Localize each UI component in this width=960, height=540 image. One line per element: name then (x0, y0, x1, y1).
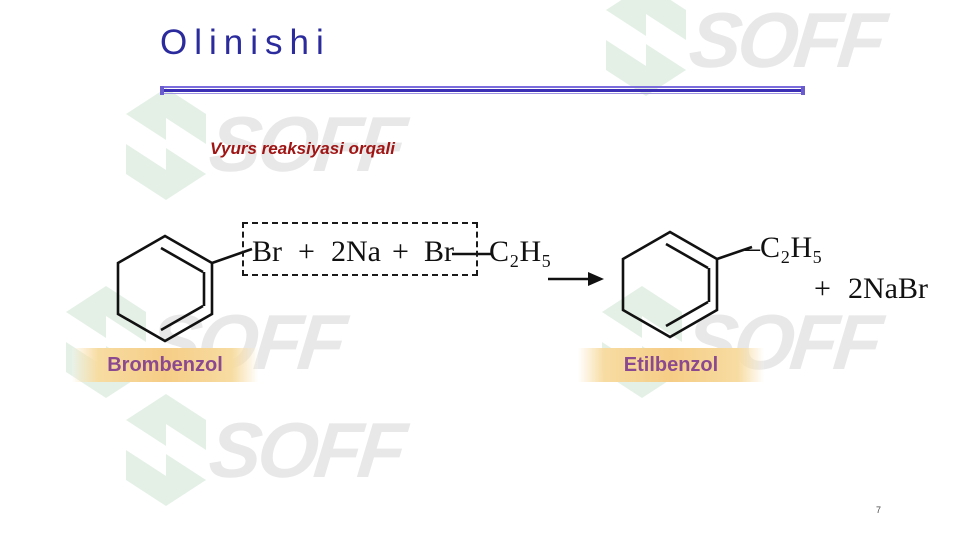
rule-line-main (160, 89, 805, 92)
reagent-br-label: Br (424, 237, 454, 267)
reaction-arrow-icon (548, 272, 604, 286)
page-number: 7 (876, 505, 881, 515)
title-divider-rule (160, 86, 805, 95)
slide: SOFF SOFF SOFF SOFF SOFF (0, 0, 960, 540)
rule-cap-left (160, 86, 164, 95)
subtitle: Vyurs reaksiyasi orqali (210, 139, 395, 159)
plus-sign-1: + (298, 237, 315, 267)
rule-cap-right (801, 86, 805, 95)
product-ethyl-group-label: –C₂H₅ (745, 233, 823, 263)
compound-label-brombenzol: Brombenzol (72, 348, 258, 382)
reaction-scheme (0, 0, 960, 540)
byproduct-plus-sign: + (814, 274, 831, 304)
product-benzene-ring (623, 232, 717, 337)
reactant-benzene-ring (118, 236, 212, 341)
compound-label-etilbenzol: Etilbenzol (578, 348, 764, 382)
title-block: Olinishi (160, 24, 331, 63)
reactant-br-label: Br (252, 237, 282, 267)
byproduct-label: 2NaBr (848, 274, 928, 304)
ethyl-group-label: C₂H₅ (489, 237, 552, 267)
page-title: Olinishi (160, 24, 331, 63)
sodium-reagent-label: 2Na (331, 237, 381, 267)
rule-line-top (160, 86, 805, 88)
rule-line-bottom (160, 93, 805, 94)
plus-sign-2: + (392, 237, 409, 267)
